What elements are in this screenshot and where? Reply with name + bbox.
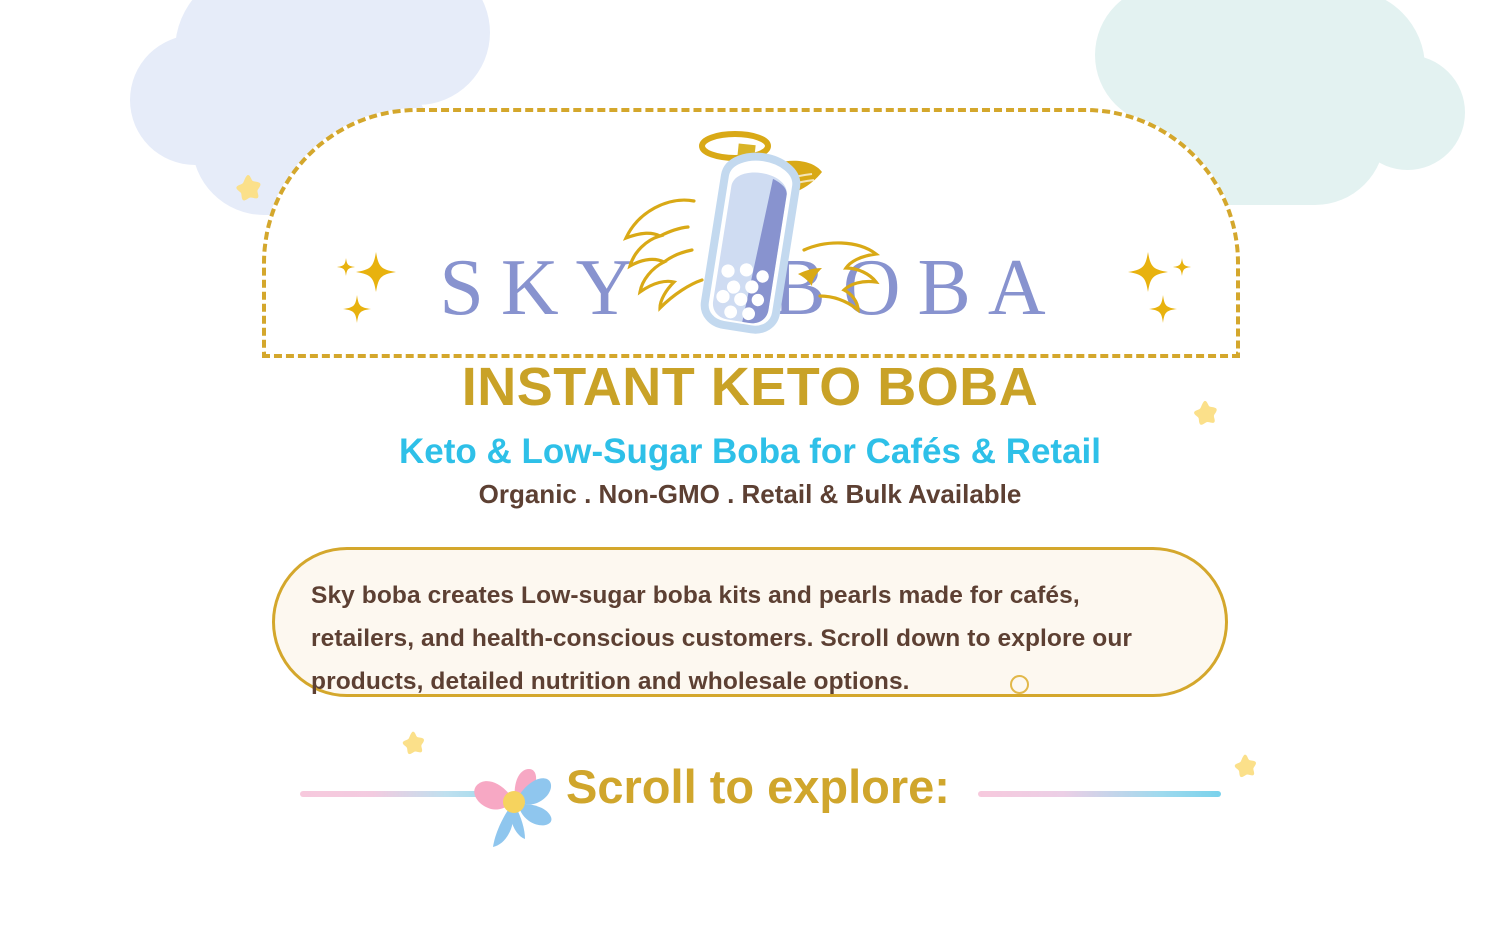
star-icon — [231, 172, 265, 206]
gradient-rule-left — [300, 791, 482, 797]
bow-tail-left — [493, 807, 513, 847]
scroll-to-explore-label: Scroll to explore: — [548, 759, 968, 815]
product-attributes: Organic . Non-GMO . Retail & Bulk Availa… — [0, 479, 1500, 510]
description-card: Sky boba creates Low-sugar boba kits and… — [272, 547, 1228, 697]
page-headline: INSTANT KETO BOBA — [0, 358, 1500, 417]
scroll-divider: Scroll to explore: — [0, 745, 1500, 855]
hero-page: SKY BOBA — [0, 0, 1500, 932]
star-icon — [398, 729, 428, 759]
star-icon — [1230, 752, 1260, 782]
bow-knot — [503, 791, 525, 813]
gradient-rule-right — [978, 791, 1221, 797]
page-tagline: Keto & Low-Sugar Boba for Cafés & Retail — [0, 432, 1500, 472]
bubble-icon — [1010, 675, 1029, 694]
right-wing-icon — [798, 243, 876, 310]
description-text: Sky boba creates Low-sugar boba kits and… — [311, 574, 1189, 703]
star-icon — [1189, 398, 1221, 430]
winged-boba-cup-logo — [608, 128, 898, 350]
left-wing-icon — [626, 200, 702, 308]
